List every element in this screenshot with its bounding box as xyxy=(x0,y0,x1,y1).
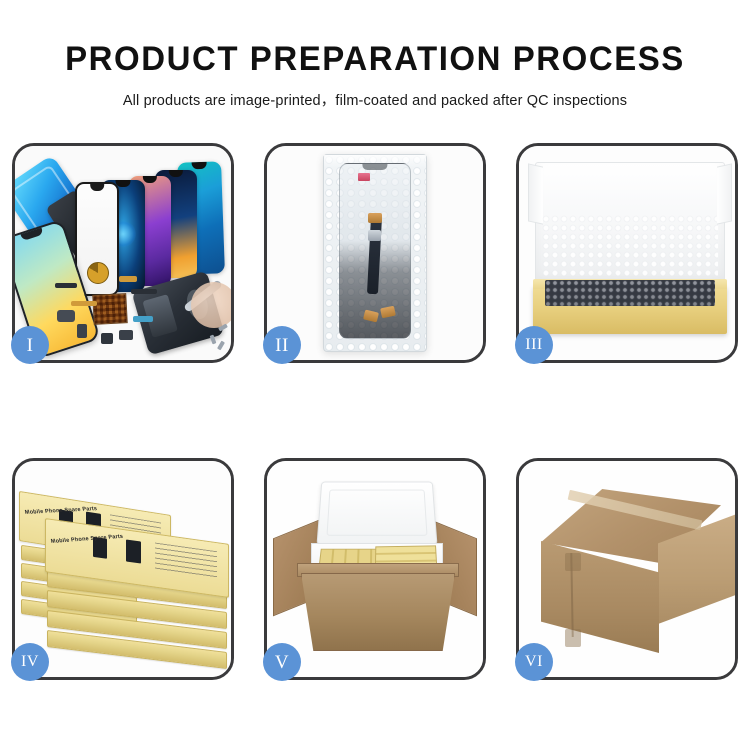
wrapped-screen-assembly xyxy=(339,163,411,339)
styrofoam-lid xyxy=(316,482,437,546)
connector-left xyxy=(363,309,379,322)
part-gold-strip xyxy=(71,301,97,306)
part-flex-cable xyxy=(131,289,157,294)
ic-chip xyxy=(368,230,381,241)
step-panel-3[interactable]: III xyxy=(516,143,738,363)
step-image-1 xyxy=(15,146,231,360)
qc-label-sticker xyxy=(358,173,370,181)
step-badge-4: IV xyxy=(11,643,49,681)
hand-icon xyxy=(191,282,231,328)
box-artwork-screen-d xyxy=(126,540,141,564)
connector-top xyxy=(368,213,382,223)
screw-icon-1 xyxy=(217,341,225,351)
kraft-inner-box xyxy=(533,286,727,334)
step-image-4: Mobile Phone Spare Parts Mobile Phone Sp… xyxy=(15,461,231,677)
box-stack: Mobile Phone Spare Parts Mobile Phone Sp… xyxy=(15,461,231,677)
step-panel-4[interactable]: Mobile Phone Spare Parts Mobile Phone Sp… xyxy=(12,458,234,680)
step-badge-2: II xyxy=(263,326,301,364)
step-image-6 xyxy=(519,461,735,677)
part-gold-flex xyxy=(119,276,137,282)
step-badge-6: VI xyxy=(515,643,553,681)
part-earpiece-mesh xyxy=(55,283,77,288)
page-header: PRODUCT PREPARATION PROCESS All products… xyxy=(0,0,750,110)
step-panel-6[interactable]: VI xyxy=(516,458,738,680)
part-vibrator xyxy=(101,333,113,344)
process-step-grid: I II xyxy=(12,143,738,680)
step-image-5 xyxy=(267,461,483,677)
step-panel-2[interactable]: II xyxy=(264,143,486,363)
bubble-wrapped-item xyxy=(545,280,715,306)
step-image-3 xyxy=(519,146,735,360)
screw-grid-icon xyxy=(92,293,128,325)
carton-body xyxy=(301,573,455,651)
part-bracket xyxy=(119,330,133,340)
part-flex-blue xyxy=(133,316,153,322)
page-root: PRODUCT PREPARATION PROCESS All products… xyxy=(0,0,750,750)
bubble-wrap-bag xyxy=(323,154,427,352)
step-badge-5: V xyxy=(263,643,301,681)
foam-lid xyxy=(535,162,725,286)
speaker-coil-icon xyxy=(87,262,109,284)
step-badge-1: I xyxy=(11,326,49,364)
part-camera-module xyxy=(57,310,75,322)
step-badge-3: III xyxy=(515,326,553,364)
step-panel-1[interactable]: I xyxy=(12,143,234,363)
step-panel-5[interactable]: V xyxy=(264,458,486,680)
carton-tab-top xyxy=(565,553,581,571)
flex-cable xyxy=(367,216,382,294)
connector-right xyxy=(380,306,396,319)
foam-texture xyxy=(542,215,718,279)
carton-tab-bottom xyxy=(565,629,581,647)
page-subtitle: All products are image-printed，film-coat… xyxy=(0,89,750,110)
page-title: PRODUCT PREPARATION PROCESS xyxy=(11,42,739,76)
step-image-2 xyxy=(267,146,483,360)
part-connector xyxy=(77,324,87,338)
